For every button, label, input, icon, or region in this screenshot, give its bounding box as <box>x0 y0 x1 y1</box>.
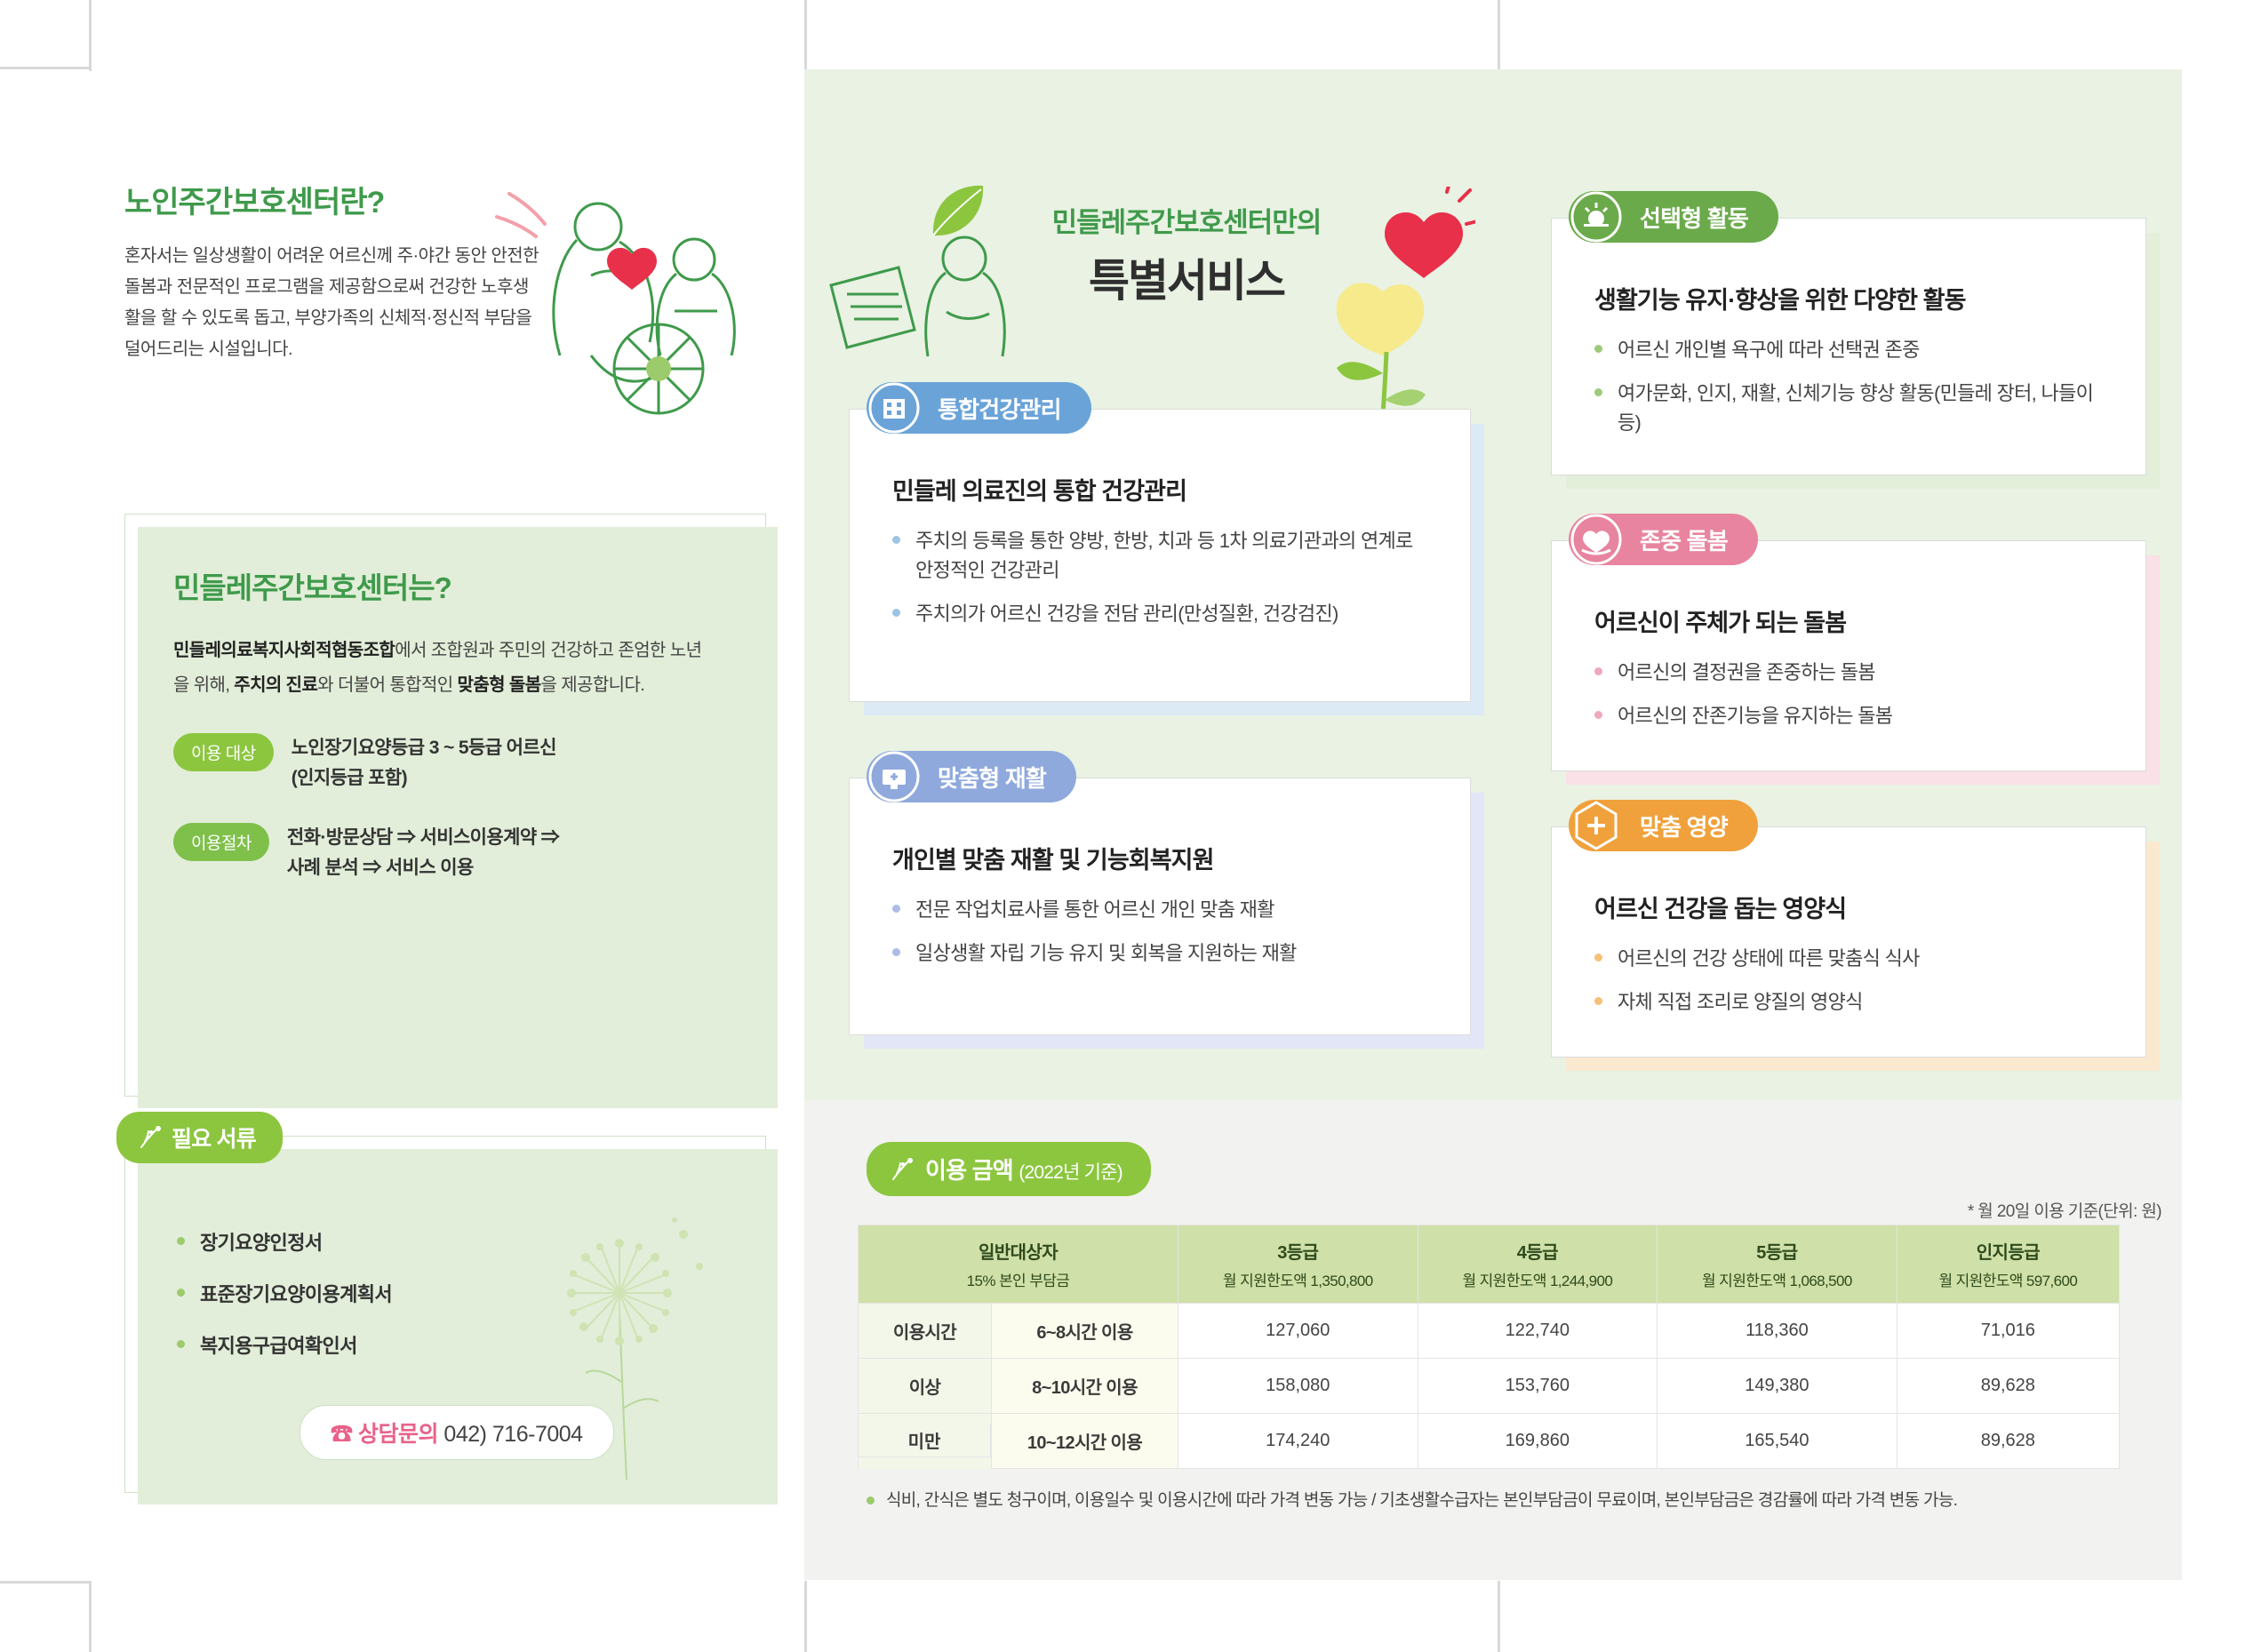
list-item: 자체 직접 조리로 양질의 영양식 <box>1594 987 2103 1017</box>
service-body-nutrition: 어르신 건강을 돕는 영양식 어르신의 건강 상태에 따른 맞춤식 식사 자체 … <box>1551 826 2146 1057</box>
crop-mark <box>804 1581 807 1652</box>
table-header-cell: 일반대상자 15% 본인 부담금 <box>859 1225 1178 1304</box>
cell-value: 118,360 <box>1658 1304 1897 1359</box>
eligibility-row: 이용 대상 노인장기요양등급 3 ~ 5등급 어르신 (인지등급 포함) <box>173 733 717 793</box>
service-card-nutrition: 맞춤 영양 어르신 건강을 돕는 영양식 어르신의 건강 상태에 따른 맞춤식 … <box>1551 800 2146 1057</box>
table-header-cell: 4등급 월 지원한도액 1,244,900 <box>1418 1225 1658 1304</box>
service-heading: 생활기능 유지·향상을 위한 다양한 활동 <box>1594 281 2103 315</box>
service-list: 어르신의 건강 상태에 따른 맞춤식 식사 자체 직접 조리로 양질의 영양식 <box>1594 944 2103 1017</box>
service-chip-label: 맞춤 영양 <box>1640 810 1728 842</box>
service-card-activity: 선택형 활동 생활기능 유지·향상을 위한 다양한 활동 어르신 개인별 욕구에… <box>1551 191 2146 475</box>
about-body-seg6: 을 제공합니다. <box>541 675 645 695</box>
fee-section-chip: 이용 금액 (2022년 기준) <box>867 1142 1151 1196</box>
table-header-cell: 5등급 월 지원한도액 1,068,500 <box>1658 1225 1897 1304</box>
header-main: 인지등급 <box>1977 1243 2040 1263</box>
service-card-health: 통합건강관리 민들레 의료진의 통합 건강관리 주치의 등록을 통한 양방, 한… <box>849 382 1471 702</box>
row-label: 6~8시간 이용 <box>992 1304 1178 1359</box>
service-list: 주치의 등록을 통한 양방, 한방, 치과 등 1차 의료기관과의 연계로 안정… <box>892 526 1427 628</box>
crop-mark <box>1498 0 1500 71</box>
list-item: 주치의 등록을 통한 양방, 한방, 치과 등 1차 의료기관과의 연계로 안정… <box>892 526 1427 585</box>
process-pill: 이용절차 <box>173 823 269 861</box>
list-item: 어르신의 결정권을 존중하는 돌봄 <box>1594 658 2103 687</box>
service-heading: 개인별 맞춤 재활 및 기능회복지원 <box>892 841 1427 875</box>
table-row: 이상 8~10시간 이용 158,080 153,760 149,380 89,… <box>859 1359 2120 1414</box>
fee-note: * 월 20일 이용 기준(단위: 원) <box>1968 1198 2161 1222</box>
list-item: 일상생활 자립 기능 유지 및 회복을 지원하는 재활 <box>892 938 1427 968</box>
service-chip-care: 존중 돌봄 <box>1569 514 1758 565</box>
table-header-row: 일반대상자 15% 본인 부담금 3등급 월 지원한도액 1,350,800 4… <box>859 1225 2120 1304</box>
service-list: 전문 작업치료사를 통한 어르신 개인 맞춤 재활 일상생활 자립 기능 유지 … <box>892 895 1427 968</box>
elderly-care-illustration <box>484 178 778 444</box>
about-card: 민들레주간보호센터는? 민들레의료복지사회적협동조합에서 조합원과 주민의 건강… <box>124 514 766 1097</box>
phone-icon-label: ☎ 상담문의 <box>331 1422 438 1447</box>
service-list: 어르신의 결정권을 존중하는 돌봄 어르신의 잔존기능을 유지하는 돌봄 <box>1594 658 2103 730</box>
list-item: 주치의가 어르신 건강을 전담 관리(만성질환, 건강검진) <box>892 599 1427 628</box>
eligibility-sub: (인지등급 포함) <box>292 763 556 794</box>
cell-value: 89,628 <box>1897 1414 2119 1469</box>
process-main: 전화·방문상담 ⇒ 서비스이용계약 ⇒ <box>287 823 559 853</box>
nutrition-icon <box>1565 794 1627 857</box>
about-body: 민들레의료복지사회적협동조합에서 조합원과 주민의 건강하고 존엄한 노년을 위… <box>173 634 717 703</box>
about-body-doctor: 주치의 진료 <box>234 675 317 695</box>
dandelion-illustration <box>541 1213 719 1480</box>
sunrise-icon <box>1565 186 1627 248</box>
fee-chip-main: 이용 금액 <box>925 1157 1013 1184</box>
service-chip-label: 존중 돌봄 <box>1640 523 1728 556</box>
row-label: 10~12시간 이용 <box>992 1414 1178 1469</box>
service-body-activity: 생활기능 유지·향상을 위한 다양한 활동 어르신 개인별 욕구에 따라 선택권… <box>1551 218 2146 475</box>
about-body-org: 민들레의료복지사회적협동조합 <box>173 641 395 660</box>
about-title: 민들레주간보호센터는? <box>173 564 717 607</box>
header-sub: 15% 본인 부담금 <box>864 1268 1172 1290</box>
fee-chip-sub: (2022년 기준) <box>1019 1162 1123 1183</box>
list-item: 어르신의 잔존기능을 유지하는 돌봄 <box>1594 701 2103 730</box>
header-main: 일반대상자 <box>979 1243 1058 1263</box>
table-row: ~ 10~12시간 이용 174,240 169,860 165,540 89,… <box>859 1414 2120 1469</box>
process-sub: 사례 분석 ⇒ 서비스 이용 <box>287 853 559 883</box>
header-sub: 월 지원한도액 1,068,500 <box>1663 1268 1891 1290</box>
service-body-care: 어르신이 주체가 되는 돌봄 어르신의 결정권을 존중하는 돌봄 어르신의 잔존… <box>1551 540 2146 771</box>
list-item: 어르신 개인별 욕구에 따라 선택권 존중 <box>1594 335 2103 364</box>
eligibility-pill: 이용 대상 <box>173 733 274 771</box>
service-heading: 민들레 의료진의 통합 건강관리 <box>892 472 1427 507</box>
eligibility-text: 노인장기요양등급 3 ~ 5등급 어르신 (인지등급 포함) <box>292 733 556 793</box>
crop-mark <box>89 1581 92 1652</box>
crop-mark <box>804 0 807 71</box>
crop-mark <box>1498 1581 1500 1652</box>
rehab-icon <box>863 746 925 808</box>
row-group-label-1: 이용시간 <box>859 1304 992 1359</box>
process-text: 전화·방문상담 ⇒ 서비스이용계약 ⇒ 사례 분석 ⇒ 서비스 이용 <box>287 823 559 882</box>
cell-value: 165,540 <box>1658 1414 1897 1469</box>
service-body-health: 민들레 의료진의 통합 건강관리 주치의 등록을 통한 양방, 한방, 치과 등… <box>849 409 1471 702</box>
required-documents-chip: 필요 서류 <box>116 1112 283 1163</box>
header-main: 4등급 <box>1517 1243 1558 1263</box>
service-chip-nutrition: 맞춤 영양 <box>1569 800 1758 851</box>
cell-value: 149,380 <box>1658 1359 1897 1414</box>
cell-value: 158,080 <box>1178 1359 1418 1414</box>
header-main: 3등급 <box>1277 1243 1318 1263</box>
header-main: 5등급 <box>1756 1243 1797 1263</box>
service-chip-label: 통합건강관리 <box>938 392 1061 425</box>
intro-text: 혼자서는 일상생활이 어려운 어르신께 주·야간 동안 안전한 돌봄과 전문적인… <box>124 241 542 365</box>
cell-value: 127,060 <box>1178 1304 1418 1359</box>
about-body-seg4: 와 더불어 통합적인 <box>317 675 457 695</box>
service-chip-label: 선택형 활동 <box>1640 201 1748 234</box>
dandelion-icon <box>888 1156 915 1183</box>
row-label: 8~10시간 이용 <box>992 1359 1178 1414</box>
list-item: 여가문화, 인지, 재활, 신체기능 향상 활동(민들레 장터, 나들이 등) <box>1594 379 2103 437</box>
service-card-care: 존중 돌봄 어르신이 주체가 되는 돌봄 어르신의 결정권을 존중하는 돌봄 어… <box>1551 514 2146 771</box>
crop-mark <box>0 1581 89 1584</box>
cell-value: 169,860 <box>1418 1414 1658 1469</box>
list-item: 어르신의 건강 상태에 따른 맞춤식 식사 <box>1594 944 2103 973</box>
service-chip-rehab: 맞춤형 재활 <box>867 751 1076 802</box>
fee-table: 일반대상자 15% 본인 부담금 3등급 월 지원한도액 1,350,800 4… <box>858 1225 2120 1469</box>
person-writing-illustration <box>822 227 1027 387</box>
service-card-rehab: 맞춤형 재활 개인별 맞춤 재활 및 기능회복지원 전문 작업치료사를 통한 어… <box>849 751 1471 1035</box>
list-item: 전문 작업치료사를 통한 어르신 개인 맞춤 재활 <box>892 895 1427 924</box>
service-chip-health: 통합건강관리 <box>867 382 1091 434</box>
cell-value: 71,016 <box>1897 1304 2119 1359</box>
table-header-cell: 인지등급 월 지원한도액 597,600 <box>1897 1225 2119 1304</box>
required-documents-title: 필요 서류 <box>172 1127 256 1152</box>
cell-value: 174,240 <box>1178 1414 1418 1469</box>
service-heading: 어르신이 주체가 되는 돌봄 <box>1594 603 2103 638</box>
service-chip-label: 맞춤형 재활 <box>938 761 1046 794</box>
required-documents-card: 필요 서류 장기요양인정서 표준장기요양이용계획서 복지용구급여확인서 ☎ 상담… <box>124 1136 766 1493</box>
service-chip-activity: 선택형 활동 <box>1569 191 1778 243</box>
header-sub: 월 지원한도액 597,600 <box>1903 1268 2113 1290</box>
table-header-cell: 3등급 월 지원한도액 1,350,800 <box>1178 1225 1418 1304</box>
fee-footnote: 식비, 간식은 별도 청구이며, 이용일수 및 이용시간에 따라 가격 변동 가… <box>867 1487 2129 1511</box>
process-row: 이용절차 전화·방문상담 ⇒ 서비스이용계약 ⇒ 사례 분석 ⇒ 서비스 이용 <box>173 823 717 882</box>
cell-value: 89,628 <box>1897 1359 2119 1414</box>
header-sub: 월 지원한도액 1,244,900 <box>1424 1268 1652 1290</box>
about-body-custom-care: 맞춤형 돌봄 <box>458 675 541 695</box>
row-group-label-2: 이상 <box>859 1359 992 1414</box>
cell-value: 153,760 <box>1418 1359 1658 1414</box>
hospital-icon <box>863 377 925 439</box>
dandelion-icon <box>136 1124 163 1151</box>
row-group-label-4: 미만 <box>858 1424 991 1457</box>
eligibility-main: 노인장기요양등급 3 ~ 5등급 어르신 <box>292 733 556 763</box>
cell-value: 122,740 <box>1418 1304 1658 1359</box>
header-sub: 월 지원한도액 1,350,800 <box>1184 1268 1412 1290</box>
heart-hands-icon <box>1565 508 1627 571</box>
service-heading: 어르신 건강을 돕는 영양식 <box>1594 890 2103 924</box>
service-list: 어르신 개인별 욕구에 따라 선택권 존중 여가문화, 인지, 재활, 신체기능… <box>1594 335 2103 437</box>
table-row: 이용시간 6~8시간 이용 127,060 122,740 118,360 71… <box>859 1304 2120 1359</box>
service-body-rehab: 개인별 맞춤 재활 및 기능회복지원 전문 작업치료사를 통한 어르신 개인 맞… <box>849 778 1471 1035</box>
crop-mark <box>89 0 92 71</box>
crop-mark <box>0 67 89 69</box>
